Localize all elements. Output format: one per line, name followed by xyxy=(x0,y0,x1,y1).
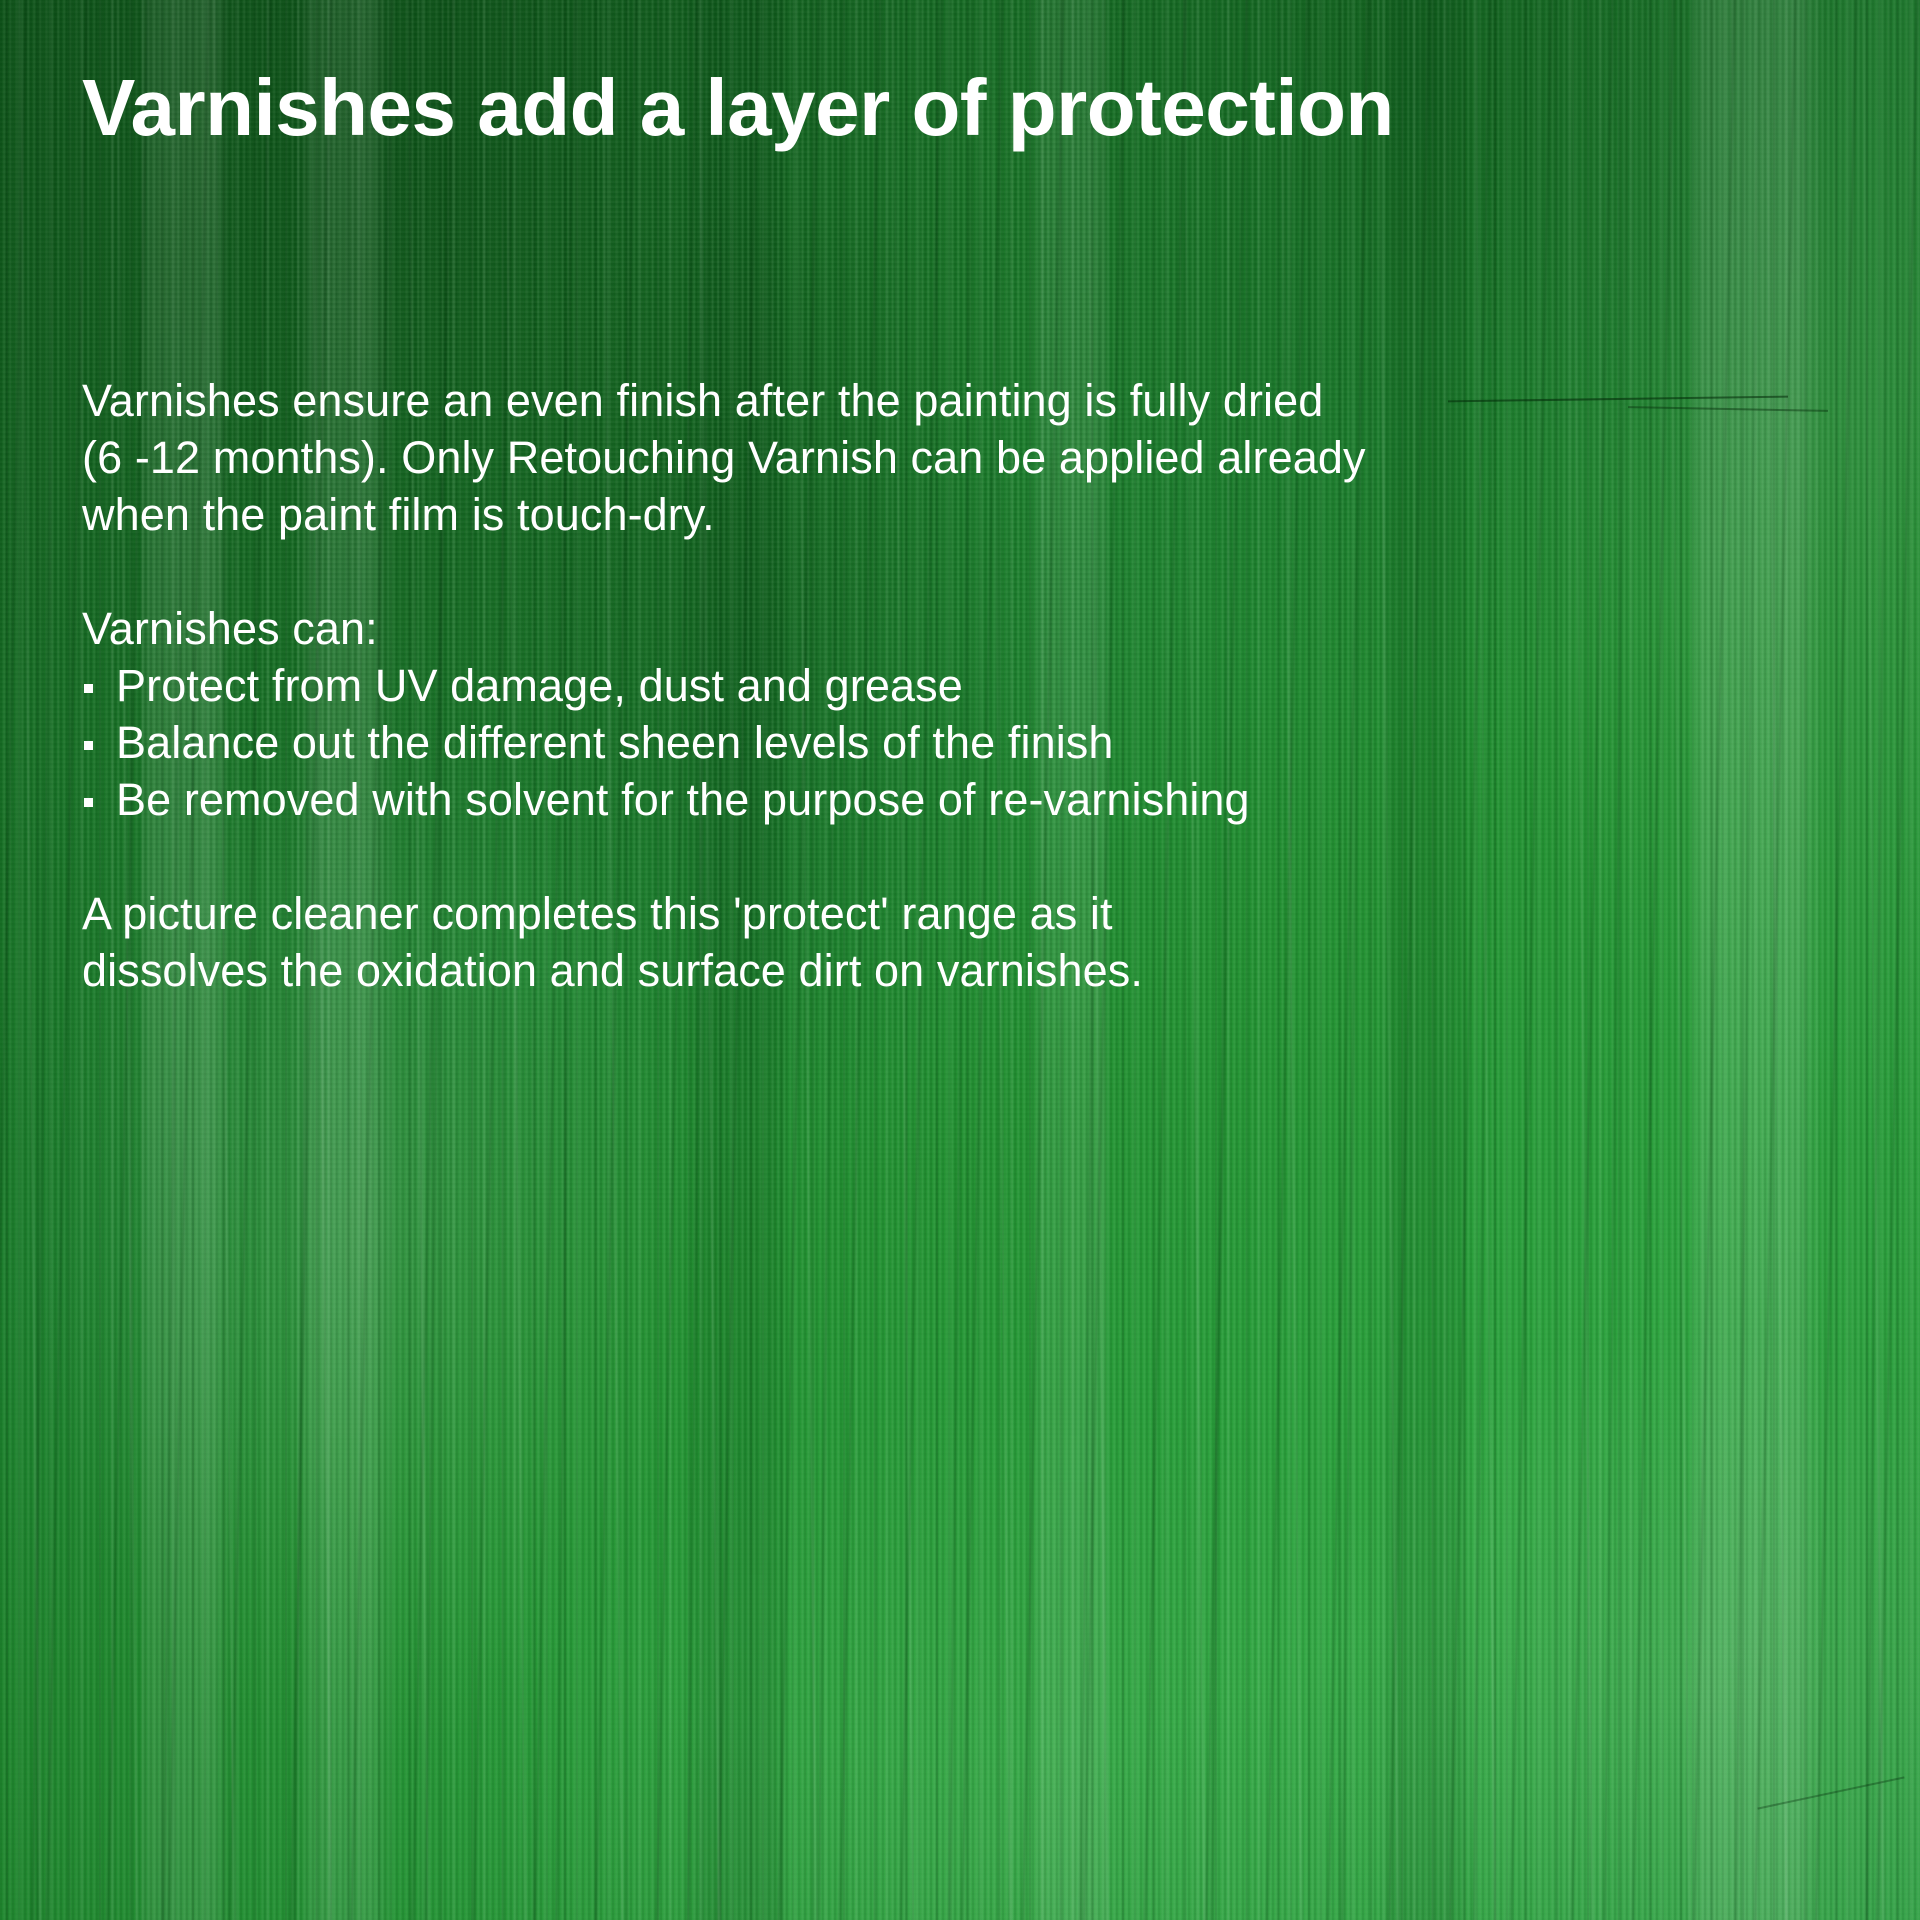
varnish-info-card: Varnishes add a layer of protection Varn… xyxy=(0,0,1920,1920)
list-item: Protect from UV damage, dust and grease xyxy=(82,657,1722,714)
list-item-label: Be removed with solvent for the purpose … xyxy=(116,774,1250,825)
list-intro-label: Varnishes can: xyxy=(82,600,1722,657)
varnish-capability-list: Protect from UV damage, dust and grease … xyxy=(82,657,1722,828)
list-item-label: Balance out the different sheen levels o… xyxy=(116,717,1114,768)
square-bullet-icon xyxy=(84,741,93,750)
list-item: Be removed with solvent for the purpose … xyxy=(82,771,1722,828)
content-area: Varnishes add a layer of protection Varn… xyxy=(0,0,1920,1920)
square-bullet-icon xyxy=(84,798,93,807)
list-item: Balance out the different sheen levels o… xyxy=(82,714,1722,771)
page-title: Varnishes add a layer of protection xyxy=(82,66,1882,149)
body-copy: Varnishes ensure an even finish after th… xyxy=(82,372,1722,999)
paragraph-spacer xyxy=(82,828,1722,885)
square-bullet-icon xyxy=(84,684,93,693)
closing-paragraph: A picture cleaner completes this 'protec… xyxy=(82,885,1722,999)
list-item-label: Protect from UV damage, dust and grease xyxy=(116,660,963,711)
paragraph-spacer xyxy=(82,543,1722,600)
intro-paragraph: Varnishes ensure an even finish after th… xyxy=(82,372,1722,543)
